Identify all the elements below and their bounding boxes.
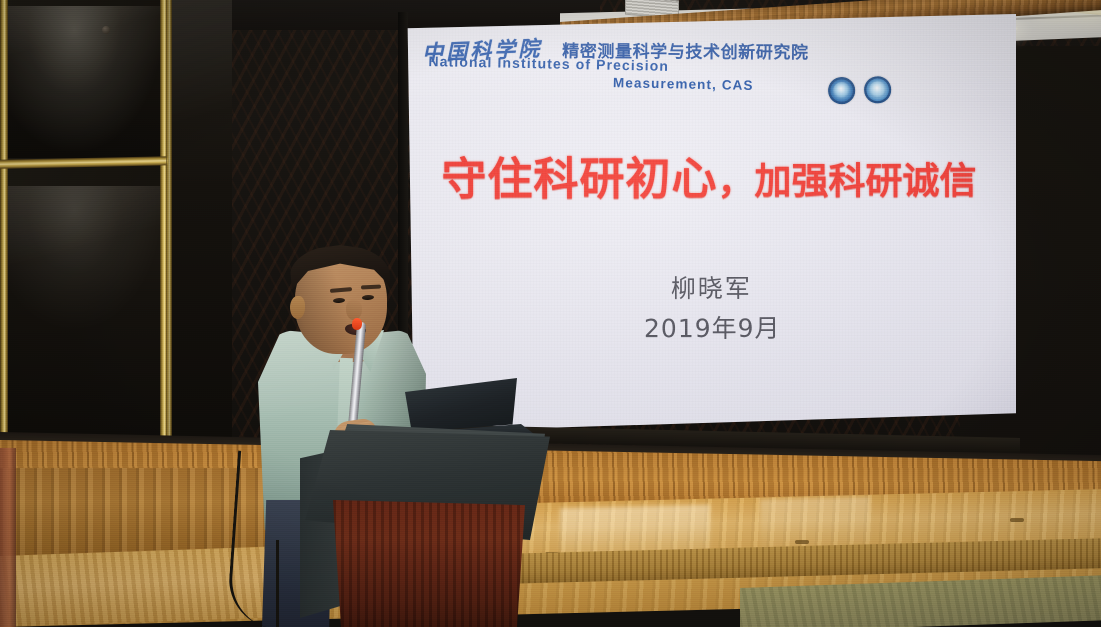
slide-title-comma: ， [717, 160, 754, 203]
institute-emblem-icon [864, 76, 892, 104]
speaker-nose [346, 300, 362, 320]
slide-content: 中国科学院 精密测量科学与技术创新研究院 National Institutes… [404, 14, 1016, 432]
cas-emblem-icon [828, 77, 856, 105]
podium-body [325, 500, 525, 627]
slide-title-part1: 守住科研初心 [441, 152, 717, 206]
wall-panel-gloss [8, 186, 166, 336]
wall-panel-gloss [8, 6, 166, 158]
header-emblems [828, 76, 892, 104]
slide-header-logotype: 中国科学院 精密测量科学与技术创新研究院 National Institutes… [416, 18, 1004, 109]
left-panel-wall [0, 0, 232, 470]
slide-title: 守住科研初心，加强科研诚信 [404, 141, 1015, 208]
slide-title-part2: 加强科研诚信 [754, 159, 976, 203]
floor-socket-icon [795, 540, 809, 544]
institute-english-line2: Measurement, CAS [613, 75, 754, 93]
institute-english-line1: National Institutes of Precision [428, 53, 669, 74]
slide-date: 2019年9月 [406, 308, 1016, 346]
wall-panel-narrow [172, 0, 232, 470]
gold-frame-horizontal [0, 156, 168, 169]
left-wall-edge-strip [0, 448, 16, 627]
gold-frame-vertical [0, 0, 8, 470]
speaker-ear [290, 296, 305, 319]
presentation-photo-scene: 中国科学院 精密测量科学与技术创新研究院 National Institutes… [0, 0, 1101, 627]
floor-socket-icon [1010, 518, 1024, 522]
wall-fixture-icon [102, 26, 110, 34]
projection-screen: 中国科学院 精密测量科学与技术创新研究院 National Institutes… [404, 14, 1016, 432]
slide-author-name: 柳晓军 [405, 268, 1016, 306]
